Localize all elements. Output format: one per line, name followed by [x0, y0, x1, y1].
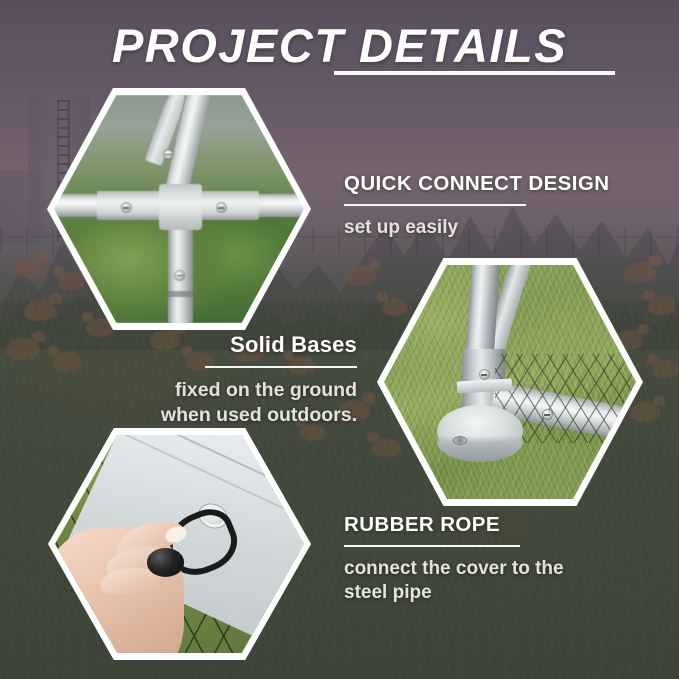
screw-icon [480, 370, 489, 379]
heading-underline [205, 366, 357, 368]
feature-heading: QUICK CONNECT DESIGN [344, 172, 609, 196]
screw-icon [164, 150, 173, 159]
heading-underline [344, 204, 526, 206]
ball-bungee [147, 548, 184, 576]
screw-icon [175, 271, 184, 280]
feature-heading: Solid Bases [120, 332, 357, 358]
screw-icon [122, 203, 131, 212]
feature-text-solid-bases: Solid Bases fixed on the ground when use… [120, 332, 357, 428]
heading-underline [344, 545, 520, 547]
feature-subtitle-line1: connect the cover to the [344, 557, 564, 581]
feature-text-rubber-rope: RUBBER ROPE connect the cover to the ste… [344, 513, 564, 606]
feature-subtitle-line1: fixed on the ground [120, 378, 357, 403]
screw-icon [543, 410, 552, 419]
title-underline [334, 71, 615, 75]
feature-subtitle-line2: steel pipe [344, 581, 564, 605]
anchor-hole [453, 436, 467, 445]
feature-subtitle-line2: when used outdoors. [120, 403, 357, 428]
feature-text-quick-connect: QUICK CONNECT DESIGN set up easily [344, 172, 609, 240]
feature-subtitle: set up easily [344, 216, 609, 240]
feature-heading: RUBBER ROPE [344, 513, 564, 537]
screw-icon [217, 203, 226, 212]
page-title: PROJECT DETAILS [0, 18, 679, 73]
product-feature-infographic: PROJECT DETAILS [0, 0, 679, 679]
